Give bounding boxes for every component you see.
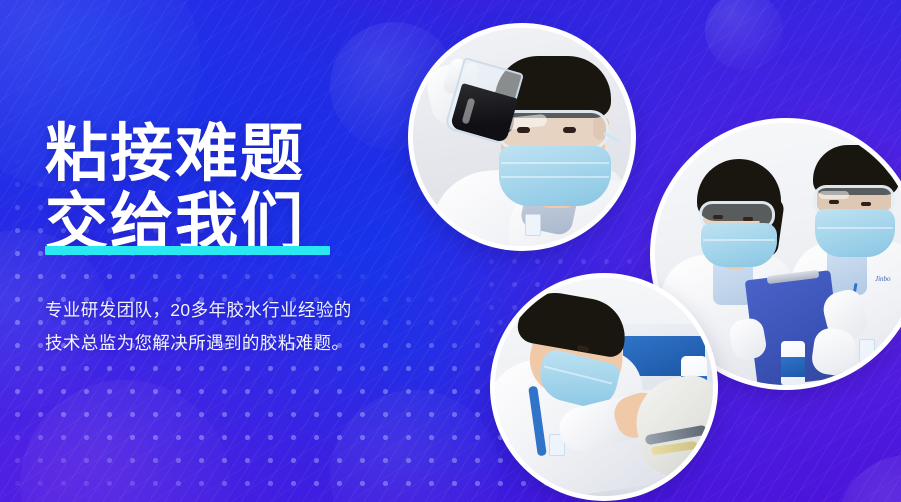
male-surgical-mask (815, 209, 895, 257)
coat-brand-logo: Jinbo (875, 275, 891, 283)
subcopy-line-2: 技术总监为您解决所遇到的胶粘难题。 (45, 327, 405, 360)
promo-banner: 粘接难题 交给我们 专业研发团队，20多年胶水行业经验的 技术总监为您解决所遇到… (0, 0, 901, 502)
headline-block: 粘接难题 交给我们 专业研发团队，20多年胶水行业经验的 技术总监为您解决所遇到… (45, 120, 405, 360)
male-goggle-highlight (819, 191, 849, 199)
eye-left (517, 127, 530, 133)
male-mask-pleat (817, 227, 893, 229)
reagent-bottle-label (781, 357, 805, 377)
female-eye-left (713, 215, 723, 219)
photo-circle-adhesive-technician: Jinbo (495, 278, 713, 496)
scene-beaker (413, 28, 631, 246)
cyan-underline-bar (45, 246, 330, 255)
headline-line-1: 粘接难题 (45, 120, 405, 189)
safety-goggles (497, 110, 609, 150)
subcopy-line-1: 专业研发团队，20多年胶水行业经验的 (45, 294, 405, 327)
decorative-bubble-top-right (705, 0, 783, 70)
photo-circle-beaker-researcher (413, 28, 631, 246)
female-surgical-mask (701, 223, 777, 267)
decorative-bubble-bottom-left (20, 380, 230, 502)
mask-pleat-1 (501, 162, 609, 164)
eye-right (563, 127, 576, 133)
decorative-bubble-bottom-mid (330, 390, 500, 502)
mask-pleat-2 (501, 176, 609, 178)
subcopy-block: 专业研发团队，20多年胶水行业经验的 技术总监为您解决所遇到的胶粘难题。 (45, 294, 405, 360)
male-eye-right (861, 202, 871, 206)
male-id-badge (859, 339, 875, 363)
male-eye-left (829, 200, 839, 204)
female-mask-pleat (703, 239, 775, 241)
scene-technician: Jinbo (495, 278, 713, 496)
decorative-bubble-bottom-right (838, 455, 901, 502)
female-eye-right (743, 217, 753, 221)
id-badge (525, 214, 541, 236)
